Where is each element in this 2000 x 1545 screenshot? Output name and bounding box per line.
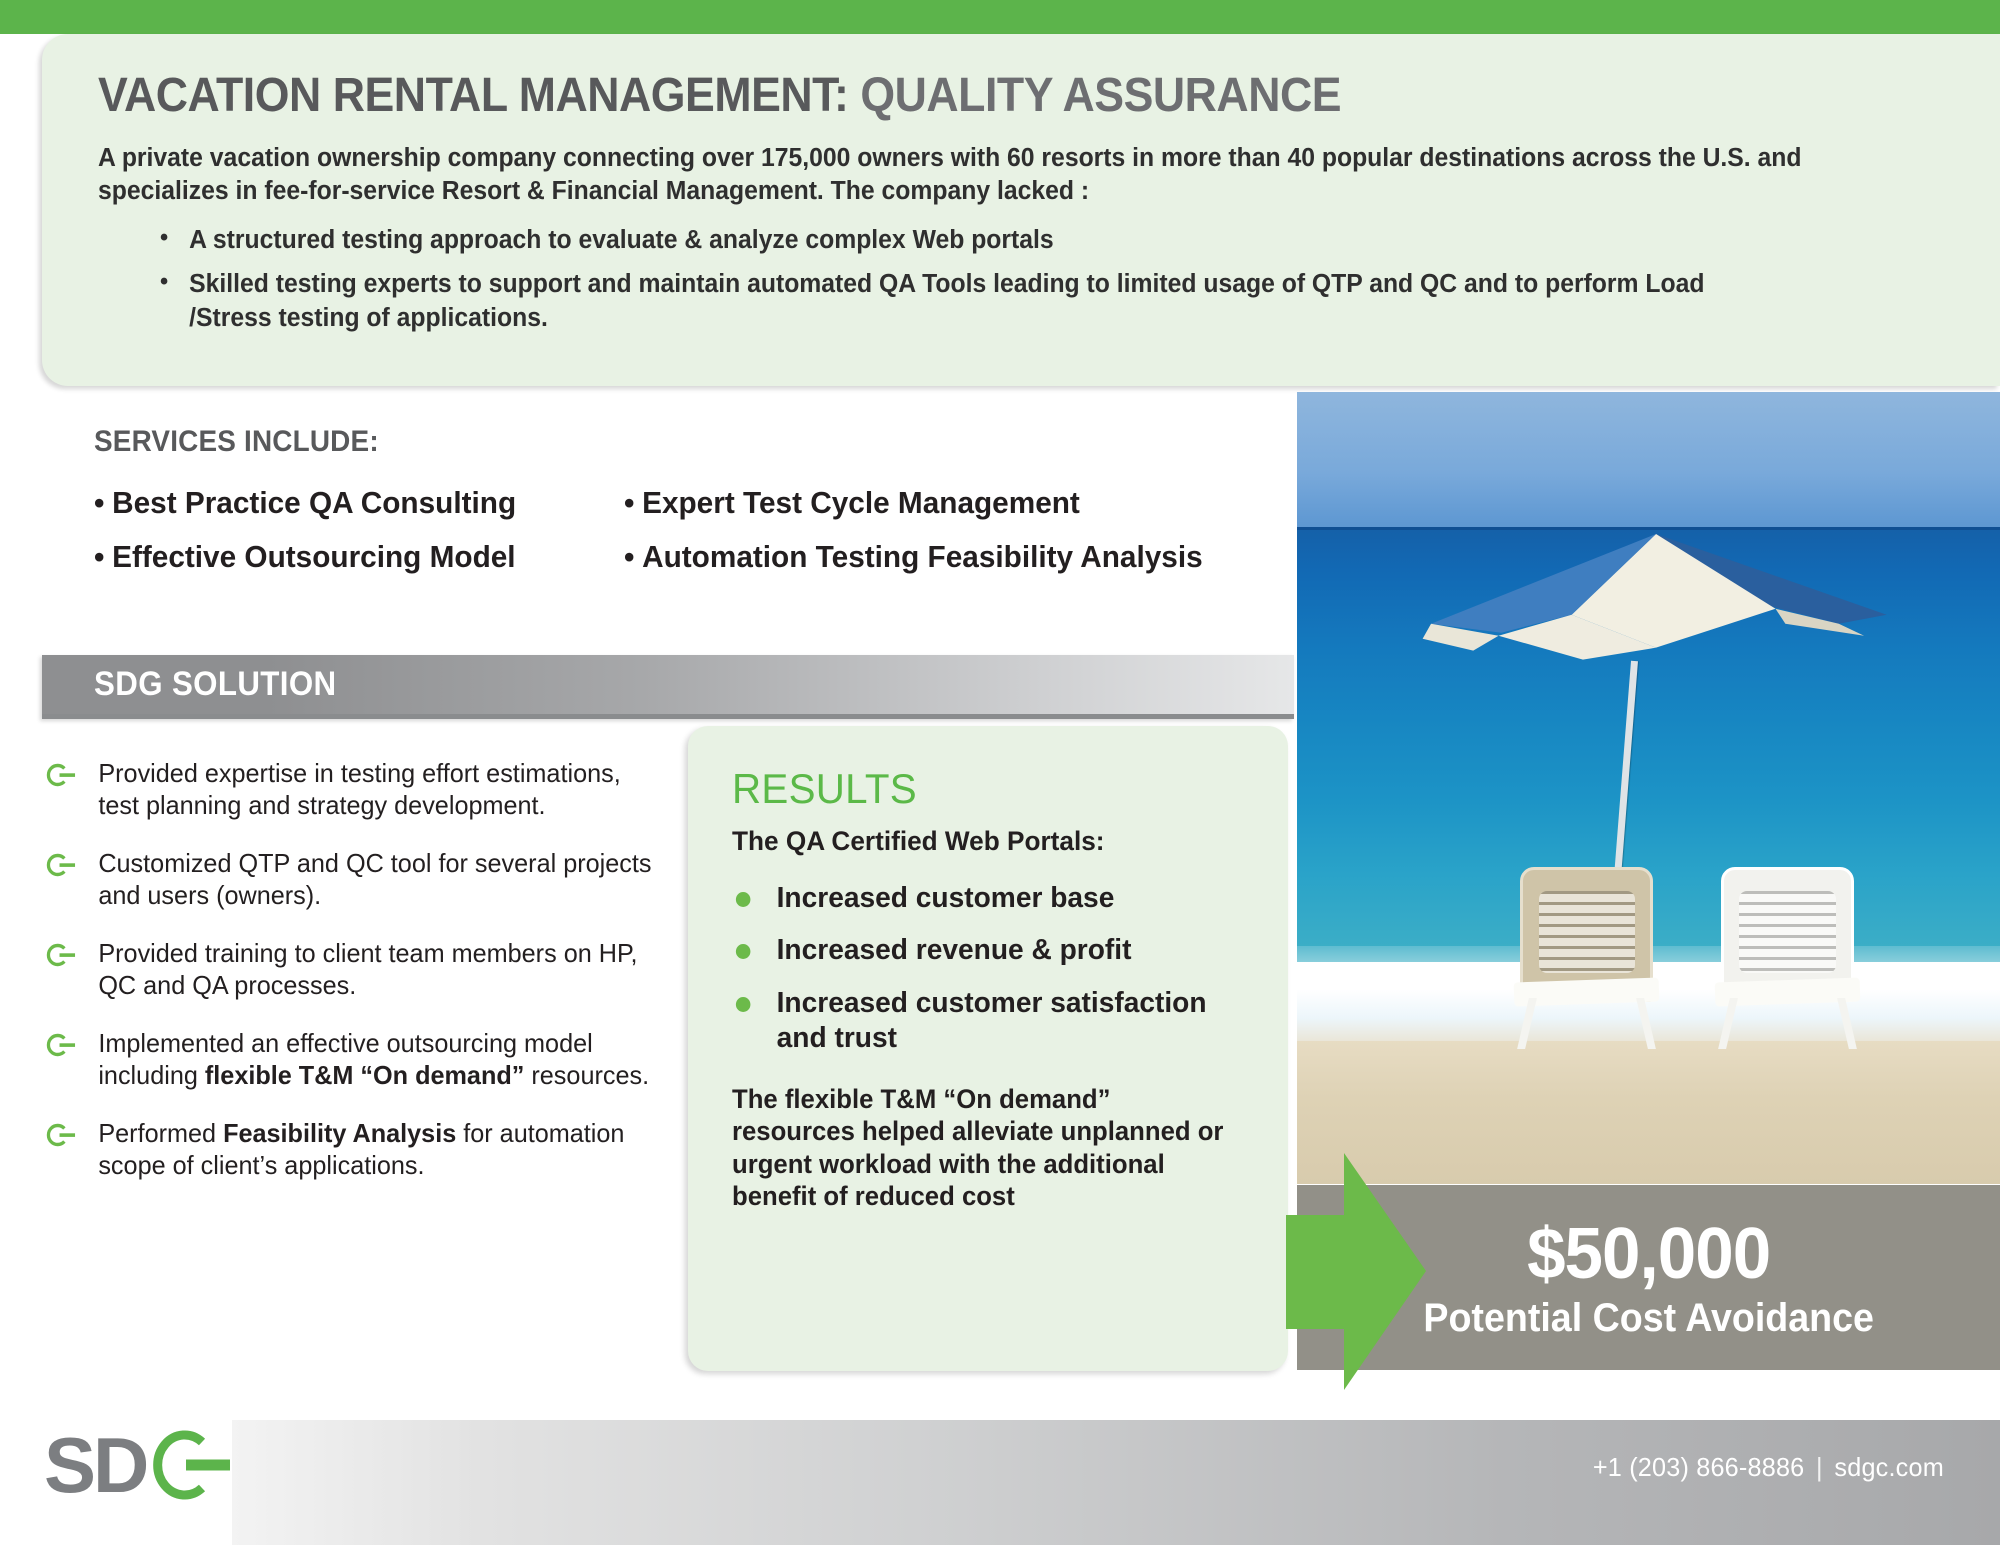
solution-item-text: Provided expertise in testing effort est…	[98, 758, 620, 820]
green-arrow-icon	[1286, 1153, 1426, 1390]
service-item: •Automation Testing Feasibility Analysis	[624, 539, 1267, 575]
bullet-dot-icon: •	[624, 539, 634, 575]
results-list-item: Increased customer satisfaction and trus…	[732, 986, 1227, 1057]
results-bullet-list: Increased customer base Increased revenu…	[732, 881, 1242, 1057]
intro-paragraph: A private vacation ownership company con…	[98, 142, 1805, 207]
intro-bullet-item: Skilled testing experts to support and m…	[160, 268, 1751, 334]
bullet-dot-icon: •	[94, 485, 104, 521]
service-item: •Expert Test Cycle Management	[624, 485, 1267, 521]
beach-chair-slats	[1739, 891, 1836, 973]
service-item-label: Automation Testing Feasibility Analysis	[642, 539, 1203, 574]
sdg-solution-banner: SDG SOLUTION	[42, 655, 1294, 719]
results-subheading: The QA Certified Web Portals:	[732, 826, 1227, 857]
page-title: VACATION RENTAL MANAGEMENT: QUALITY ASSU…	[98, 72, 1811, 120]
beach-chair	[1712, 867, 1863, 1049]
solution-item-text: Performed	[98, 1118, 223, 1148]
cost-avoidance-label: Potential Cost Avoidance	[1423, 1298, 1874, 1338]
results-list-item: Increased revenue & profit	[732, 933, 1227, 968]
sdg-g-mark-icon	[146, 1423, 232, 1507]
solution-bullet-list: Provided expertise in testing effort est…	[44, 758, 684, 1208]
beach-chair-slats	[1539, 891, 1636, 973]
page-title-accent: QUALITY ASSURANCE	[848, 69, 1341, 122]
service-item-label: Best Practice QA Consulting	[112, 485, 516, 520]
results-paragraph-emphasis: The flexible T&M “On demand”	[732, 1084, 1110, 1114]
service-item: •Effective Outsourcing Model	[94, 539, 603, 575]
sdg-logo-text: SD	[44, 1426, 146, 1504]
intro-card: VACATION RENTAL MANAGEMENT: QUALITY ASSU…	[42, 34, 2000, 386]
service-item: •Best Practice QA Consulting	[94, 485, 603, 521]
bullet-dot-icon: •	[624, 485, 634, 521]
page-title-main: VACATION RENTAL MANAGEMENT:	[98, 69, 848, 122]
results-list-item: Increased customer base	[732, 881, 1227, 916]
photo-sky	[1297, 392, 2000, 527]
solution-list-item: Implemented an effective outsourcing mod…	[44, 1028, 665, 1092]
service-item-label: Effective Outsourcing Model	[112, 539, 515, 574]
service-item-label: Expert Test Cycle Management	[642, 485, 1080, 520]
solution-item-text: Customized QTP and QC tool for several p…	[98, 848, 651, 910]
solution-item-text-end: resources.	[524, 1060, 649, 1090]
results-card: RESULTS The QA Certified Web Portals: In…	[688, 726, 1288, 1371]
cost-avoidance-amount: $50,000	[1527, 1218, 1770, 1290]
intro-bullet-list: A structured testing approach to evaluat…	[98, 224, 1940, 334]
services-grid: •Best Practice QA Consulting •Expert Tes…	[94, 485, 1294, 575]
services-section: SERVICES INCLUDE: •Best Practice QA Cons…	[94, 425, 1294, 575]
solution-list-item: Customized QTP and QC tool for several p…	[44, 848, 665, 912]
sdg-logo: SD	[44, 1423, 232, 1507]
top-accent-bar	[0, 0, 2000, 34]
sdg-g-mark-icon	[44, 851, 77, 879]
sdg-g-mark-icon	[44, 761, 77, 789]
services-heading: SERVICES INCLUDE:	[94, 425, 1210, 459]
sdg-solution-label: SDG SOLUTION	[94, 665, 337, 704]
footer-separator: |	[1816, 1452, 1823, 1482]
beach-chair-legs	[1511, 998, 1662, 1049]
solution-list-item: Performed Feasibility Analysis for autom…	[44, 1118, 665, 1182]
sdg-g-mark-icon	[44, 941, 77, 969]
solution-list-item: Provided training to client team members…	[44, 938, 665, 1002]
footer-phone[interactable]: +1 (203) 866-8886	[1593, 1452, 1805, 1482]
beach-chair-legs	[1712, 998, 1863, 1049]
sdg-g-mark-icon	[44, 1031, 77, 1059]
intro-bullet-item: A structured testing approach to evaluat…	[160, 224, 1751, 257]
case-study-page: VACATION RENTAL MANAGEMENT: QUALITY ASSU…	[0, 0, 2000, 1545]
footer-contact: +1 (203) 866-8886|sdgc.com	[1593, 1452, 1944, 1483]
bullet-dot-icon: •	[94, 539, 104, 575]
footer-website-link[interactable]: sdgc.com	[1835, 1452, 1944, 1482]
solution-item-emphasis: Feasibility Analysis	[223, 1118, 456, 1148]
beach-chair	[1511, 867, 1662, 1049]
solution-item-emphasis: flexible T&M “On demand”	[205, 1060, 524, 1090]
beach-umbrella-canopy-icon	[1417, 531, 1895, 666]
solution-item-text: Provided training to client team members…	[98, 938, 637, 1000]
beach-photo	[1297, 392, 2000, 1184]
solution-list-item: Provided expertise in testing effort est…	[44, 758, 665, 822]
results-paragraph: The flexible T&M “On demand” resources h…	[732, 1083, 1227, 1213]
sdg-g-mark-icon	[44, 1121, 77, 1149]
results-paragraph-rest: resources helped alleviate unplanned or …	[732, 1116, 1223, 1211]
photo-horizon-line	[1297, 527, 2000, 530]
results-heading: RESULTS	[732, 768, 1222, 810]
